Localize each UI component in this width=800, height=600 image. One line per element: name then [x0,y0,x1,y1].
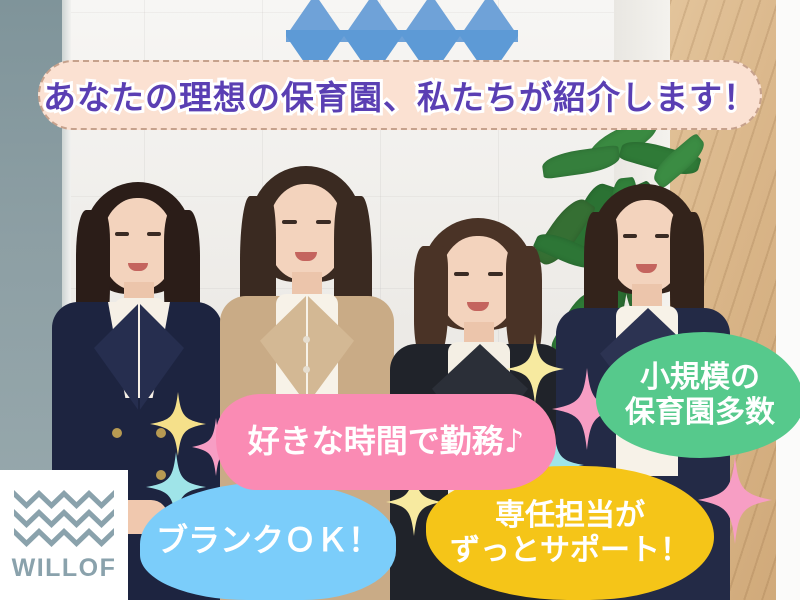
advertisement-banner: WILLOF [0,0,800,600]
bubble-small-nursery-text: 小規模の 保育園多数 [625,360,775,431]
headline-banner: あなたの理想の保育園、私たちが紹介します！ [38,60,762,130]
willof-zigzag-icon [14,488,114,548]
willof-logo-badge: WILLOF [0,470,128,600]
headline-text: あなたの理想の保育園、私たちが紹介します！ [43,71,757,119]
bubble-blank-ok-text: ブランクＯＫ！ [156,522,380,560]
bubble-blank-ok: ブランクＯＫ！ [140,482,396,600]
bubble-flexible-hours: 好きな時間で勤務♪ [216,394,556,490]
right-white-strip [776,0,800,600]
bubble-flexible-hours-text: 好きな時間で勤務♪ [248,423,524,461]
willof-wordmark: WILLOF [12,554,117,583]
bubble-dedicated-support-text: 専任担当が ずっとサポート！ [450,498,690,569]
